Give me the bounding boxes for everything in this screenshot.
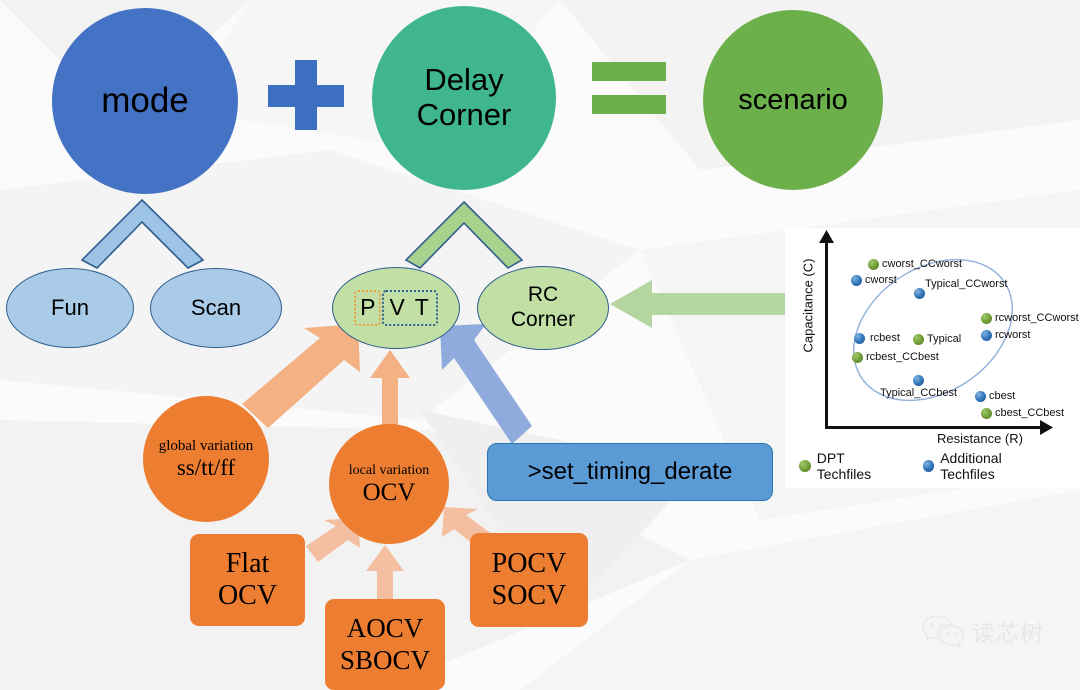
node-pocv-socv-label: POCV SOCV <box>492 548 567 612</box>
node-pvt[interactable]: P V T <box>332 267 460 349</box>
chart-point-label-cworst: cworst <box>865 274 897 286</box>
node-scan[interactable]: Scan <box>150 268 282 348</box>
node-mode[interactable]: mode <box>52 8 238 194</box>
chart-point-label-typical: Typical <box>927 333 961 345</box>
node-aocv-sbocv-label: AOCV SBOCV <box>340 613 430 675</box>
chart-point-label-cbest: cbest <box>989 390 1015 402</box>
arrow-local-variation-to-pvt <box>368 348 412 430</box>
node-set-timing-derate[interactable]: >set_timing_derate <box>487 443 773 501</box>
chart-legend-dot-additional <box>923 460 935 472</box>
chart-xlabel: Resistance (R) <box>937 431 1023 446</box>
chart-point-label-typical-ccworst: Typical_CCworst <box>925 278 1008 290</box>
chart-point-typical-ccworst <box>914 288 925 299</box>
node-fun-label: Fun <box>51 295 89 321</box>
node-mode-label: mode <box>101 81 189 120</box>
equals-symbol <box>592 62 666 116</box>
node-aocv-sbocv[interactable]: AOCV SBOCV <box>325 599 445 690</box>
diagram-canvas: mode Delay Corner scenario <box>0 0 1080 690</box>
node-global-variation-label: global variation ss/tt/ff <box>159 437 254 481</box>
node-fun[interactable]: Fun <box>6 268 134 348</box>
chart-point-typical <box>913 334 924 345</box>
watermark: 读芯树 <box>921 614 1044 648</box>
node-flat-ocv-label: Flat OCV <box>218 548 277 612</box>
node-delay-corner-label: Delay Corner <box>417 63 512 132</box>
node-set-timing-derate-label: >set_timing_derate <box>528 458 733 486</box>
chevron-delay-corner-split <box>404 200 524 270</box>
node-delay-corner[interactable]: Delay Corner <box>372 6 556 190</box>
arrow-aocv-to-local-variation <box>364 543 406 603</box>
equals-bar-top <box>592 62 666 81</box>
wechat-icon <box>921 614 965 648</box>
chart-point-rcbest <box>854 333 865 344</box>
node-scenario-label: scenario <box>738 84 848 116</box>
chart-point-cbest <box>975 391 986 402</box>
chart-ylabel: Capacitance (C) <box>801 246 816 366</box>
chart-legend: DPT Techfiles Additional Techfiles <box>799 450 1079 482</box>
node-pocv-socv[interactable]: POCV SOCV <box>470 533 588 627</box>
pvt-label-group: P V T <box>354 290 438 326</box>
chevron-mode-split <box>80 198 205 270</box>
plus-symbol <box>268 60 344 130</box>
chart-point-cbest-ccbest <box>981 408 992 419</box>
chart-point-rcworst-ccworst <box>981 313 992 324</box>
chart-legend-dot-dpt <box>799 460 811 472</box>
chart-point-label-rcworst-ccworst: rcworst_CCworst <box>995 312 1079 324</box>
chart-point-label-typical-ccbest: Typical_CCbest <box>880 387 957 399</box>
chart-point-cworst-ccworst <box>868 259 879 270</box>
equals-bar-bottom <box>592 95 666 114</box>
watermark-text: 读芯树 <box>972 614 1044 648</box>
plus-bar-vertical <box>295 60 317 130</box>
chart-legend-label-dpt: DPT Techfiles <box>817 450 901 482</box>
chart-point-label-rcworst: rcworst <box>995 329 1030 341</box>
chart-legend-item-dpt: DPT Techfiles <box>799 450 901 482</box>
node-rc-corner-label: RC Corner <box>511 283 575 333</box>
node-scan-label: Scan <box>191 295 241 321</box>
chart-point-rcworst <box>981 330 992 341</box>
node-flat-ocv[interactable]: Flat OCV <box>190 534 305 626</box>
arrow-chart-to-rc-corner <box>610 278 790 330</box>
rc-corner-chart: Capacitance (C) Resistance (R) cworst_CC… <box>785 228 1080 488</box>
chart-point-label-rcbest-ccbest: rcbest_CCbest <box>866 351 939 363</box>
pvt-voltage-temp-box: V T <box>382 290 437 326</box>
chart-point-typical-ccbest <box>913 375 924 386</box>
node-local-variation[interactable]: local variation OCV <box>329 424 449 544</box>
arrow-global-variation-to-pvt <box>240 322 365 434</box>
chart-point-label-cbest-ccbest: cbest_CCbest <box>995 407 1064 419</box>
chart-legend-item-additional: Additional Techfiles <box>923 450 1058 482</box>
node-global-variation[interactable]: global variation ss/tt/ff <box>143 396 269 522</box>
chart-point-cworst <box>851 275 862 286</box>
chart-point-label-rcbest: rcbest <box>870 332 900 344</box>
pvt-process-box: P <box>354 290 381 326</box>
node-local-variation-label: local variation OCV <box>349 461 429 507</box>
chart-point-label-cworst-ccworst: cworst_CCworst <box>882 258 962 270</box>
chart-legend-label-additional: Additional Techfiles <box>940 450 1057 482</box>
chart-point-rcbest-ccbest <box>852 352 863 363</box>
node-rc-corner[interactable]: RC Corner <box>477 266 609 350</box>
node-scenario[interactable]: scenario <box>703 10 883 190</box>
